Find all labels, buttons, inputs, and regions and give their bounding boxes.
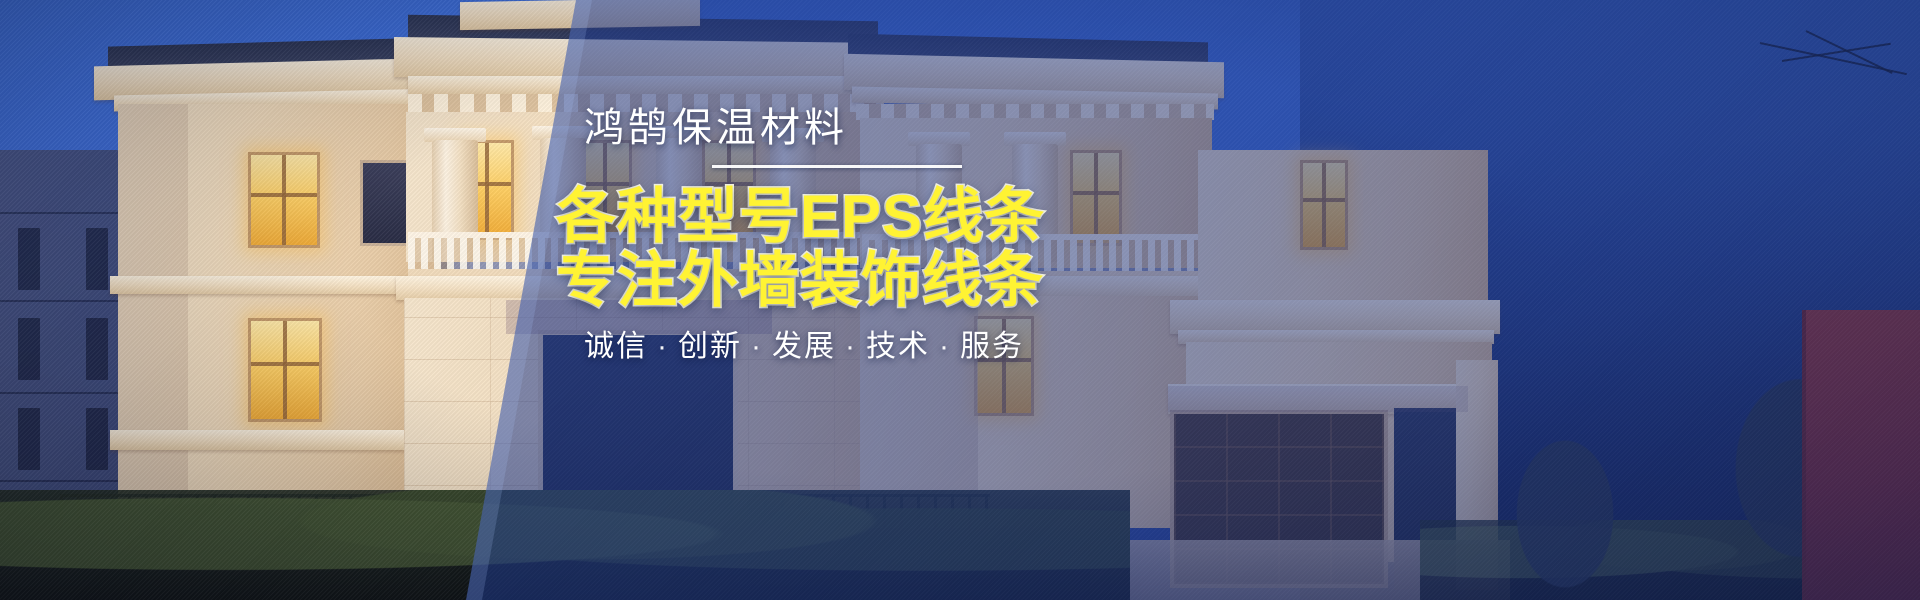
brand-name: 鸿鹄保温材料 [584,104,848,152]
banner-text-block: 鸿鹄保温材料 各种型号EPS线条 专注外墙装饰线条 诚信·创新·发展·技术·服务 [0,0,1920,600]
tagline-separator: · [648,330,678,363]
tagline-separator: · [836,330,866,363]
brand-divider-rule [712,165,962,168]
hero-banner: 鸿鹄保温材料 各种型号EPS线条 专注外墙装饰线条 诚信·创新·发展·技术·服务 [0,0,1920,600]
tagline-separator: · [930,330,960,363]
tagline-separator: · [742,330,772,363]
tagline: 诚信·创新·发展·技术·服务 [584,327,1024,367]
tagline-item: 发展 [772,330,836,363]
tagline-item: 创新 [678,330,742,363]
tagline-item: 诚信 [584,330,648,363]
tagline-item: 技术 [866,330,930,363]
tagline-item: 服务 [960,330,1024,363]
headline-line-1: 各种型号EPS线条 [556,186,1045,248]
headline-line-2: 专注外墙装饰线条 [556,250,1044,312]
